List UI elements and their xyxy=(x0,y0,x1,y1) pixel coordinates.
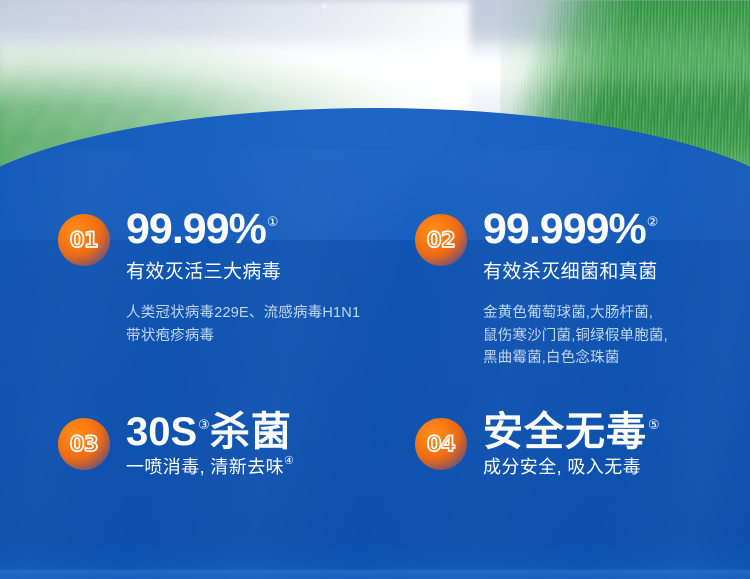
headline-footnote-marker: ③ xyxy=(198,417,210,432)
feature-subline: 有效灭活三大病毒 xyxy=(126,261,388,283)
feature-text-block: 99.999%② 有效杀灭细菌和真菌 金黄色葡萄球菌,大肠杆菌, 鼠伤寒沙门菌,… xyxy=(483,208,745,369)
description-line: 鼠伤寒沙门菌,铜绿假单胞菌, xyxy=(483,325,745,347)
subline-footnote-marker: ④ xyxy=(284,455,294,467)
feature-badge-03: 03 xyxy=(58,418,110,470)
feature-headline: 99.999%② xyxy=(483,208,745,252)
feature-text-block: 30S③杀菌 一喷消毒, 清新去味④ xyxy=(126,412,388,477)
feature-text-block: 安全无毒⑤ 成分安全, 吸入无毒 xyxy=(483,412,745,477)
feature-badge-01: 01 xyxy=(58,214,110,266)
feature-badge-04: 04 xyxy=(415,418,467,470)
headline-value: 30S xyxy=(126,410,197,454)
badge-number: 02 xyxy=(427,230,455,251)
badge-number: 01 xyxy=(70,230,98,251)
feature-text-block: 99.99%① 有效灭活三大病毒 人类冠状病毒229E、流感病毒H1N1 带状疱… xyxy=(126,208,388,347)
description-line: 金黄色葡萄球菌,大肠杆菌, xyxy=(483,302,745,324)
feature-headline: 30S③杀菌 xyxy=(126,412,388,453)
feature-badge-02: 02 xyxy=(415,214,467,266)
feature-subline: 成分安全, 吸入无毒 xyxy=(483,457,745,478)
feature-subline: 一喷消毒, 清新去味④ xyxy=(126,457,388,478)
feature-description: 人类冠状病毒229E、流感病毒H1N1 带状疱疹病毒 xyxy=(126,302,388,347)
feature-grid: 01 99.99%① 有效灭活三大病毒 人类冠状病毒229E、流感病毒H1N1 … xyxy=(0,0,750,579)
description-line: 人类冠状病毒229E、流感病毒H1N1 xyxy=(126,302,388,324)
headline-footnote-marker: ① xyxy=(267,214,279,229)
feature-subline: 有效杀灭细菌和真菌 xyxy=(483,261,745,283)
subline-value: 有效杀灭细菌和真菌 xyxy=(483,261,658,282)
subline-value: 一喷消毒, 清新去味 xyxy=(126,457,284,477)
subline-value: 有效灭活三大病毒 xyxy=(126,261,281,282)
badge-number: 04 xyxy=(427,434,455,455)
subline-value: 成分安全, 吸入无毒 xyxy=(483,457,641,477)
description-line: 带状疱疹病毒 xyxy=(126,325,388,347)
headline-value: 99.999% xyxy=(483,205,646,253)
description-line: 黑曲霉菌,白色念珠菌 xyxy=(483,347,745,369)
headline-suffix: 杀菌 xyxy=(210,410,292,454)
feature-headline: 安全无毒⑤ xyxy=(483,412,745,453)
headline-value: 安全无毒 xyxy=(483,410,647,454)
badge-number: 03 xyxy=(70,434,98,455)
product-feature-banner: 01 99.99%① 有效灭活三大病毒 人类冠状病毒229E、流感病毒H1N1 … xyxy=(0,0,750,579)
feature-description: 金黄色葡萄球菌,大肠杆菌, 鼠伤寒沙门菌,铜绿假单胞菌, 黑曲霉菌,白色念珠菌 xyxy=(483,302,745,369)
headline-value: 99.99% xyxy=(126,205,266,253)
headline-footnote-marker: ⑤ xyxy=(648,417,660,432)
headline-footnote-marker: ② xyxy=(647,214,659,229)
feature-headline: 99.99%① xyxy=(126,208,388,252)
